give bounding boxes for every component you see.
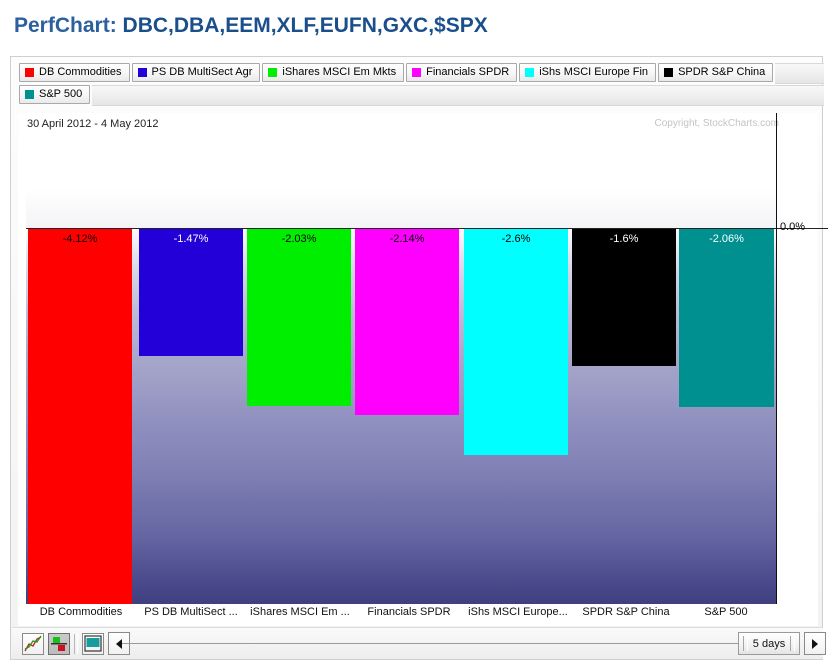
bar-value-label: -2.06%	[679, 229, 774, 245]
x-axis-label: PS DB MultiSect ...	[136, 606, 246, 618]
legend-row: DB Commodities PS DB MultiSect Agr iShar…	[19, 63, 824, 84]
perfchart-page: PerfChart: DBC,DBA,EEM,XLF,EUFN,GXC,$SPX…	[0, 0, 833, 672]
bar-value-label: -2.03%	[247, 229, 351, 245]
legend-swatch-icon	[25, 90, 34, 99]
legend-item-ishares-msci-em-mkts[interactable]: iShares MSCI Em Mkts	[262, 63, 404, 82]
legend-swatch-icon	[138, 68, 147, 77]
legend-item-sp-500[interactable]: S&P 500	[19, 85, 90, 104]
chart-toolbar: 5 days	[12, 627, 823, 659]
chevron-right-icon	[812, 639, 818, 649]
x-axis-label: DB Commodities	[26, 606, 136, 618]
chart-panel: DB Commodities PS DB MultiSect Agr iShar…	[10, 56, 823, 660]
right-axis-line	[776, 113, 777, 604]
legend-item-ps-db-multisect-agr[interactable]: PS DB MultiSect Agr	[132, 63, 261, 82]
next-period-button[interactable]	[804, 632, 826, 655]
legend-item-label: iShares MSCI Em Mkts	[282, 67, 396, 78]
solid-fill-icon[interactable]	[82, 633, 104, 655]
page-title: PerfChart: DBC,DBA,EEM,XLF,EUFN,GXC,$SPX	[14, 14, 488, 38]
bar-financials-spdr[interactable]: -2.14%	[355, 229, 459, 415]
plot-upper-region	[26, 189, 776, 229]
x-axis-label: iShs MSCI Europe...	[462, 606, 574, 618]
slider-grip-left-icon	[743, 636, 748, 651]
bar-chart-icon[interactable]	[48, 633, 70, 655]
slider-grip-right-icon	[790, 636, 795, 651]
x-axis-label: S&P 500	[676, 606, 776, 618]
line-chart-icon[interactable]	[22, 633, 44, 655]
date-range-label: 30 April 2012 - 4 May 2012	[27, 118, 158, 130]
x-axis-labels: DB Commodities PS DB MultiSect ... iShar…	[26, 606, 776, 624]
bar-value-label: -1.6%	[572, 229, 676, 245]
bar-sp-500[interactable]: -2.06%	[679, 229, 774, 407]
legend-swatch-icon	[25, 68, 34, 77]
x-axis-label: SPDR S&P China	[571, 606, 681, 618]
legend-item-db-commodities[interactable]: DB Commodities	[19, 63, 130, 82]
range-label: 5 days	[753, 638, 785, 650]
legend-item-label: DB Commodities	[39, 67, 122, 78]
bar-ishs-msci-europe-fin[interactable]: -2.6%	[464, 229, 568, 455]
legend-item-label: S&P 500	[39, 89, 82, 100]
legend-swatch-icon	[412, 68, 421, 77]
legend-item-spdr-sp-china[interactable]: SPDR S&P China	[658, 63, 773, 82]
legend: DB Commodities PS DB MultiSect Agr iShar…	[11, 57, 824, 107]
legend-filler	[775, 63, 824, 84]
page-title-tickers: DBC,DBA,EEM,XLF,EUFN,GXC,$SPX	[123, 14, 488, 37]
bar-value-label: -2.14%	[355, 229, 459, 245]
legend-filler	[92, 85, 824, 106]
range-slider-thumb[interactable]: 5 days	[738, 632, 800, 655]
legend-row: S&P 500	[19, 85, 824, 106]
legend-item-label: Financials SPDR	[426, 67, 509, 78]
bar-ishares-msci-em-mkts[interactable]: -2.03%	[247, 229, 351, 406]
chart-canvas[interactable]: 30 April 2012 - 4 May 2012 Copyright, St…	[18, 113, 818, 626]
page-title-prefix: PerfChart:	[14, 14, 123, 37]
bar-spdr-sp-china[interactable]: -1.6%	[572, 229, 676, 366]
x-axis-label: iShares MSCI Em ...	[244, 606, 356, 618]
legend-item-label: SPDR S&P China	[678, 67, 765, 78]
plot-area: -4.12% -1.47% -2.03% -2.14% -2.6% -1.6%	[26, 229, 776, 604]
legend-swatch-icon	[664, 68, 673, 77]
legend-item-financials-spdr[interactable]: Financials SPDR	[406, 63, 517, 82]
x-axis-label: Financials SPDR	[354, 606, 464, 618]
bar-value-label: -4.12%	[28, 229, 132, 245]
bar-ps-db-multisect-agr[interactable]: -1.47%	[139, 229, 243, 356]
legend-item-label: iShs MSCI Europe Fin	[539, 67, 648, 78]
bar-value-label: -2.6%	[464, 229, 568, 245]
bar-db-commodities[interactable]: -4.12%	[28, 229, 132, 604]
range-slider-track[interactable]	[122, 643, 742, 645]
toolbar-separator	[74, 634, 78, 654]
legend-swatch-icon	[268, 68, 277, 77]
legend-item-label: PS DB MultiSect Agr	[152, 67, 253, 78]
copyright-label: Copyright, StockCharts.com	[655, 118, 780, 129]
bar-value-label: -1.47%	[139, 229, 243, 245]
legend-item-ishs-msci-europe-fin[interactable]: iShs MSCI Europe Fin	[519, 63, 656, 82]
legend-swatch-icon	[525, 68, 534, 77]
zero-axis-label: 0.0%	[780, 221, 805, 233]
